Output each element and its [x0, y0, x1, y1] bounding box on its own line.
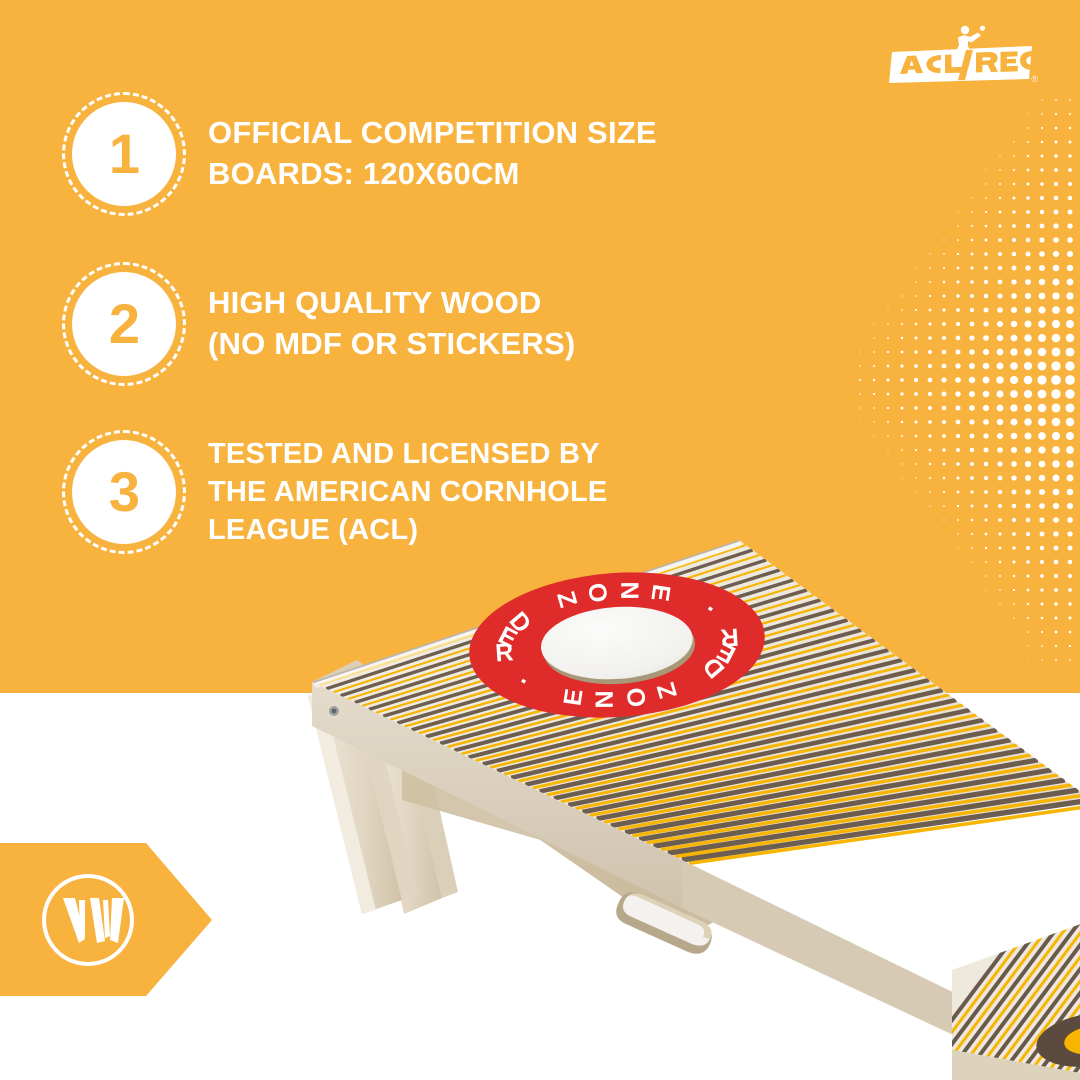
- feature-text-1: OFFICIAL COMPETITION SIZE BOARDS: 120X60…: [208, 113, 657, 195]
- badge-circle-2: 2: [72, 272, 176, 376]
- trademark-symbol: ®: [1031, 75, 1038, 84]
- badge-number-2: 2: [109, 296, 139, 352]
- feature-text-3: TESTED AND LICENSED BY THE AMERICAN CORN…: [208, 435, 607, 550]
- svg-text:O: O: [622, 686, 652, 709]
- badge-circle-3: 3: [72, 440, 176, 544]
- product-feature-card: ® 1 OFFICIAL COMPETITION SIZE BOARDS: 12…: [0, 0, 1080, 1080]
- feature-list: 1 OFFICIAL COMPETITION SIZE BOARDS: 120X…: [0, 0, 820, 640]
- brand-badge-arrow: [0, 843, 212, 996]
- feature-item-2: 2 HIGH QUALITY WOOD (NO MDF OR STICKERS): [62, 262, 575, 386]
- leg-bolt: [327, 704, 342, 719]
- badge-circle-1: 1: [72, 102, 176, 206]
- feature-item-3: 3 TESTED AND LICENSED BY THE AMERICAN CO…: [62, 430, 607, 554]
- svg-text:N: N: [591, 690, 619, 708]
- feature-text-2: HIGH QUALITY WOOD (NO MDF OR STICKERS): [208, 283, 575, 365]
- feature-item-1: 1 OFFICIAL COMPETITION SIZE BOARDS: 120X…: [62, 92, 657, 216]
- feature-badge-1: 1: [62, 92, 186, 216]
- feature-badge-3: 3: [62, 430, 186, 554]
- badge-number-1: 1: [109, 126, 139, 182]
- badge-number-3: 3: [109, 464, 139, 520]
- feature-badge-2: 2: [62, 262, 186, 386]
- acl-rec-logo: ®: [886, 24, 1036, 86]
